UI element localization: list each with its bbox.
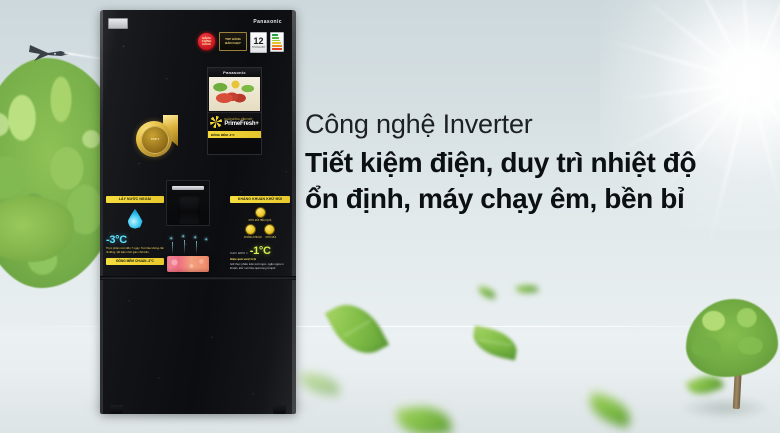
- gold-award-medal-icon: TOP 1: [136, 115, 178, 161]
- primefresh-logo: NGĂN ĐÔNG MỀM MỚI PrimeFresh+: [208, 112, 261, 131]
- tree-right: [686, 299, 778, 421]
- headline-block: Công nghệ Inverter Tiết kiệm điện, duy t…: [305, 108, 755, 218]
- temp-lead-right: CAO HƠN =: [230, 251, 248, 255]
- info-panel-right: KHÁNG KHUẨN KHỬ MÙI KHỬ MÙI HIỆU QUẢ KHÁ…: [230, 196, 290, 271]
- water-dispenser[interactable]: [166, 180, 210, 226]
- snowflake-star-icon: [210, 116, 222, 128]
- primefresh-food-photo: [209, 77, 260, 111]
- info-panel-left: LẤY NƯỚC NGOÀI -3°C Thực phẩm tươi đến 7…: [106, 196, 164, 265]
- headline-line-3: ổn định, máy chạy êm, bền bỉ: [305, 181, 755, 217]
- primefresh-logo-name: PrimeFresh+: [224, 121, 258, 127]
- badge-warranty-number: 12: [253, 37, 263, 46]
- water-droplet-icon: [128, 209, 143, 229]
- snow-line: [196, 241, 197, 254]
- door-seam: [100, 276, 296, 280]
- headline-eyebrow: Công nghệ Inverter: [305, 108, 755, 141]
- primefresh-strip: ĐÔNG MỀM -3°C: [208, 131, 261, 138]
- primefresh-panel: Panasonic NGĂN ĐÔNG MỀM MỚI PrimeFresh+ …: [207, 67, 262, 155]
- temp-desc-right: Giữ thực phẩm luôn tươi ngon, ngăn ngừa …: [230, 263, 290, 271]
- deo-caption-left: KHÁNG KHUẨN: [244, 237, 262, 240]
- temp-desc-left: Thực phẩm tươi đến 7 ngày. Tươi lâu khôn…: [106, 247, 164, 255]
- badge-red-seal: HÀNG CHÍNH HÃNG: [197, 32, 216, 51]
- info-right-label: KHÁNG KHUẨN KHỬ MÙI: [230, 196, 290, 203]
- dispenser-alcove[interactable]: [178, 194, 200, 224]
- info-left-bottom-bar: ĐÔNG MỀM CHUẨN -3°C: [106, 258, 164, 264]
- badge-warranty-sub: THÁNG BH: [252, 46, 265, 49]
- badge-energy-rating: [270, 32, 284, 52]
- badge-gold-award: TOP HÀNG BÁN CHẠY: [219, 32, 247, 51]
- dispenser-control-panel[interactable]: [172, 186, 204, 190]
- badge-warranty: 12 THÁNG BH: [250, 32, 267, 53]
- snowflake-icon: ✳: [169, 236, 173, 242]
- primefresh-bullet-list: Rã đông nhanh, tiết kiệm thời gian Giữ t…: [208, 154, 261, 155]
- deodorizer-icon: KHỬ MÙI HIỆU QUẢ KHÁNG KHUẨN KHỬ MÙI: [230, 207, 290, 241]
- emblem-text: TOP 1: [151, 138, 160, 141]
- temp-value-left: -3°C: [106, 235, 164, 246]
- headline-line-2: Tiết kiệm điện, duy trì nhiệt độ: [305, 145, 755, 181]
- info-left-label: LẤY NƯỚC NGOÀI: [106, 196, 164, 203]
- snowflake-icon: ✳: [204, 237, 208, 243]
- badge-gold-award-bottom: BÁN CHẠY: [225, 42, 241, 45]
- door-edge-highlight-right: [292, 10, 296, 414]
- snowflake-icon: ✳: [193, 235, 197, 241]
- meat-tray: [167, 256, 209, 272]
- energy-label-sticker: [108, 18, 128, 29]
- deo-caption-top: KHỬ MÙI HIỆU QUẢ: [249, 220, 272, 223]
- snowflake-icon: ✳: [181, 234, 185, 240]
- deo-caption-right: KHỬ MÙI: [266, 237, 276, 240]
- snow-line: [184, 240, 185, 254]
- primefresh-panel-header: Panasonic: [208, 68, 261, 76]
- door-edge-highlight-left: [100, 10, 103, 414]
- badge-red-seal-text: HÀNG CHÍNH HÃNG: [198, 37, 215, 46]
- promo-badge-row: HÀNG CHÍNH HÃNG TOP HÀNG BÁN CHẠY 12 THÁ…: [197, 32, 284, 53]
- refrigerator[interactable]: Panasonic Panasonic HÀNG CHÍNH HÃNG TOP …: [100, 10, 296, 422]
- brand-logo-top: Panasonic: [253, 19, 282, 25]
- fridge-foot-right: [273, 405, 286, 414]
- temp-value-right: -1°C: [250, 246, 271, 257]
- temp-desc-header-right: Hiệu quả vượt trội: [230, 257, 290, 261]
- snow-line: [172, 242, 173, 254]
- banner-stage: Panasonic Panasonic HÀNG CHÍNH HÃNG TOP …: [0, 0, 780, 433]
- fridge-foot-left: [110, 405, 123, 414]
- fridge-cabinet: Panasonic Panasonic HÀNG CHÍNH HÃNG TOP …: [100, 10, 296, 414]
